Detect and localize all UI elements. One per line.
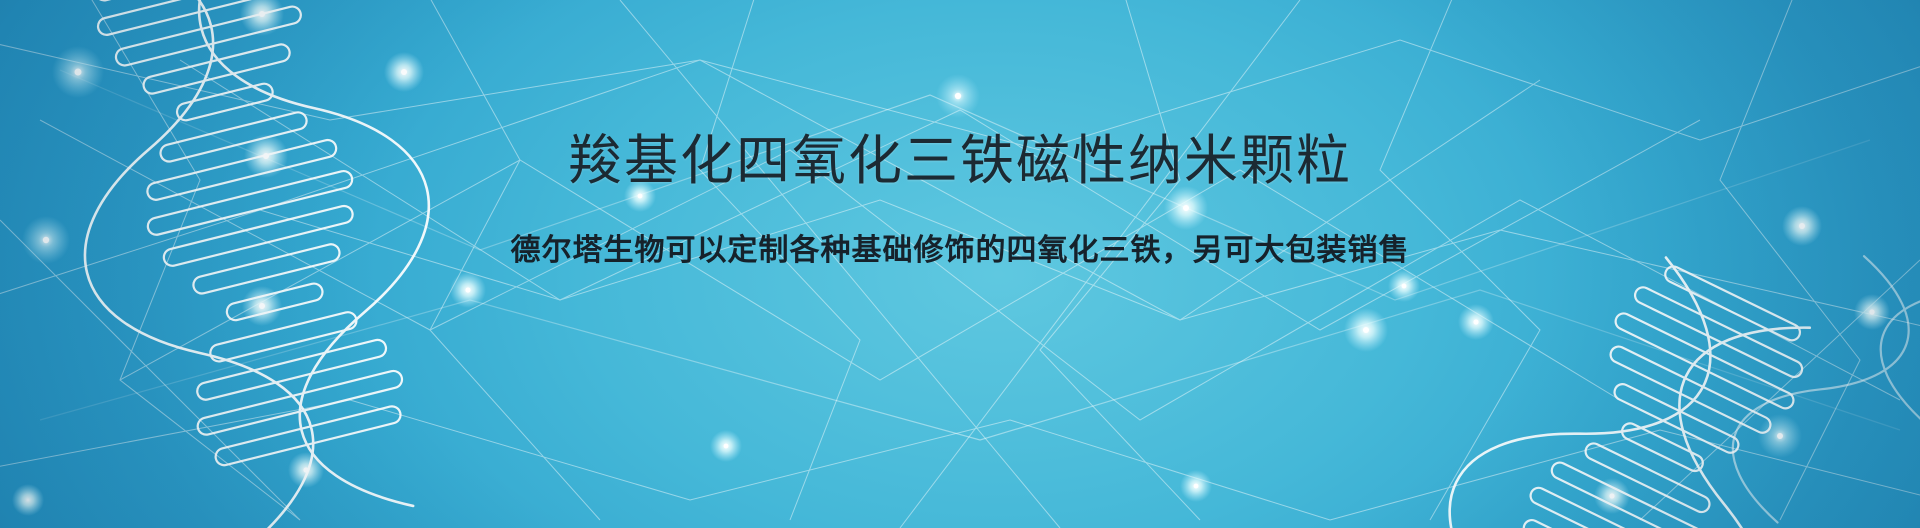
- network-nodes: [12, 0, 1890, 516]
- promo-banner: 羧基化四氧化三铁磁性纳米颗粒 德尔塔生物可以定制各种基础修饰的四氧化三铁，另可大…: [0, 0, 1920, 528]
- dna-double-helix-icon-right-upper: [1713, 235, 1920, 528]
- network-lines-graphic: [0, 0, 1920, 528]
